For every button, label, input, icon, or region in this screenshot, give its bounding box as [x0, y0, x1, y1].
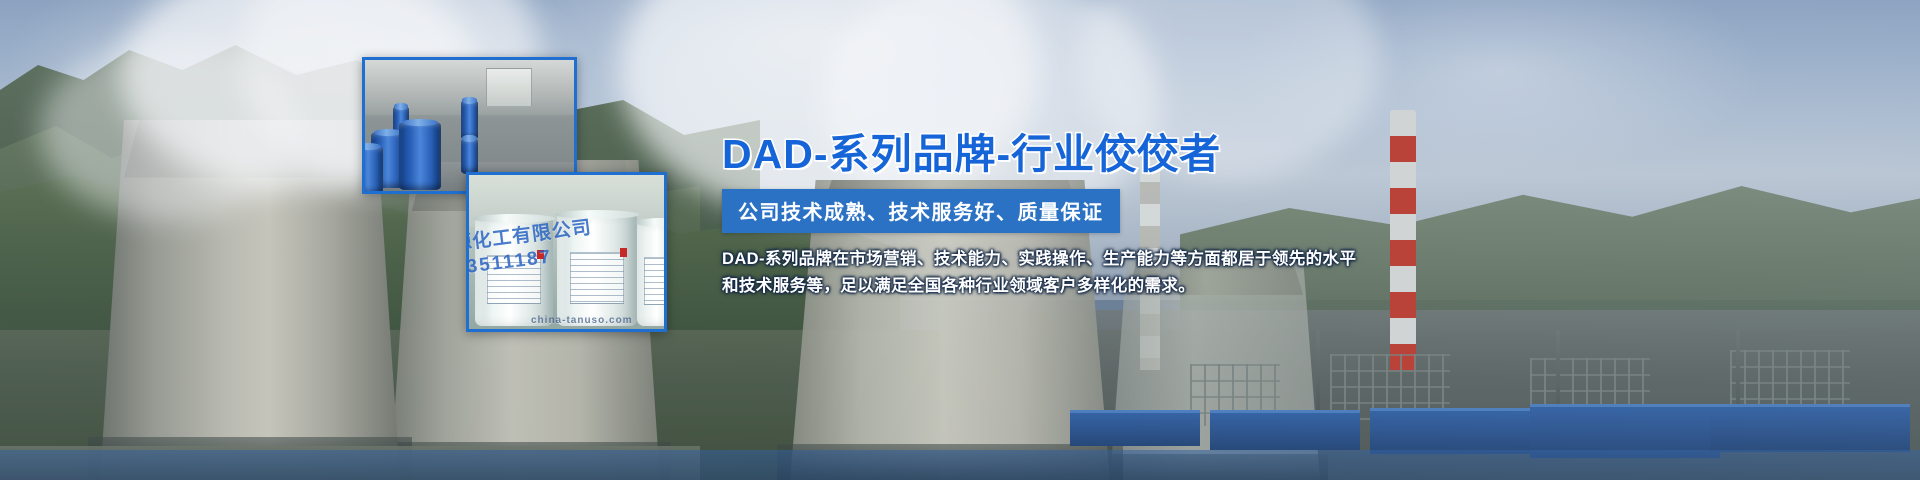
pails-scene: 焦作市创源化工有限公司 13593511187 china-tanuso.com [469, 175, 664, 329]
banner-copy: DAD-系列品牌-行业佼佼者 公司技术成熟、技术服务好、质量保证 DAD-系列品… [722, 132, 1462, 300]
banner-subtitle-bar: 公司技术成熟、技术服务好、质量保证 [722, 189, 1120, 233]
hero-banner: 焦作市创源化工有限公司 13593511187 china-tanuso.com… [0, 0, 1920, 480]
product-photo-pails[interactable]: 焦作市创源化工有限公司 13593511187 china-tanuso.com [466, 172, 667, 332]
chemical-drum-icon [362, 146, 383, 194]
banner-headline: DAD-系列品牌-行业佼佼者 [722, 132, 1462, 176]
chemical-drum-icon [399, 122, 441, 190]
warehouse-door [486, 68, 532, 107]
plastic-pail-icon [557, 214, 637, 326]
plastic-pail-icon [475, 218, 553, 326]
description-line-1: DAD-系列品牌在市场营销、技术能力、实践操作、生产能力等方面都居于领先的水平 [722, 246, 1462, 273]
banner-description: DAD-系列品牌在市场营销、技术能力、实践操作、生产能力等方面都居于领先的水平 … [722, 246, 1462, 299]
plastic-pail-icon [637, 222, 667, 326]
description-line-2: 和技术服务等，足以满足全国各种行业领域客户多样化的需求。 [722, 273, 1462, 300]
